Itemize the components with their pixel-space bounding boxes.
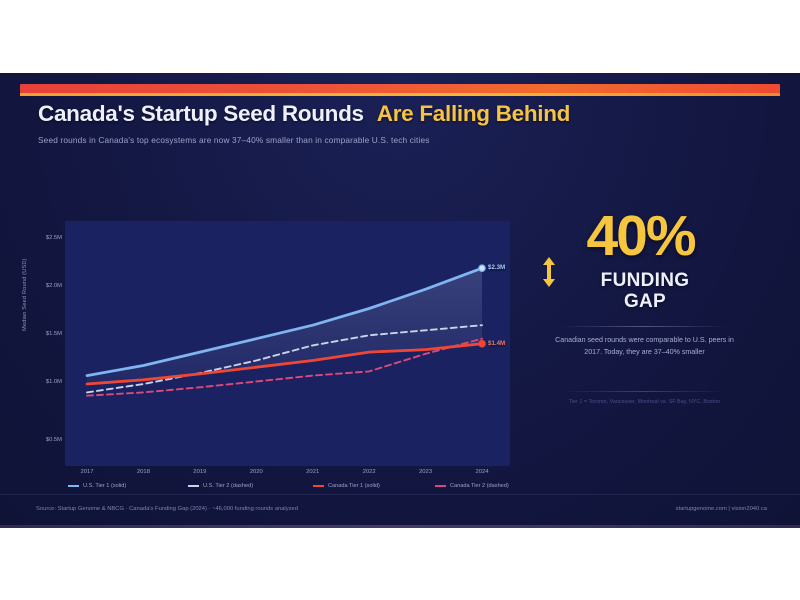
title-accent: Are Falling Behind — [377, 101, 570, 126]
page-title: Canada's Startup Seed RoundsAre Falling … — [38, 101, 570, 127]
legend-label: U.S. Tier 2 (dashed) — [203, 483, 253, 489]
site-links[interactable]: startupgenome.com | vision2040.ca — [676, 506, 767, 512]
divider — [560, 326, 728, 327]
legend-swatch-icon — [188, 485, 199, 487]
legend-swatch-icon — [68, 485, 79, 487]
page-subtitle: Seed rounds in Canada's top ecosystems a… — [38, 135, 430, 145]
divider-secondary — [560, 391, 728, 392]
bottom-rule — [0, 525, 800, 528]
x-tick: 2024 — [475, 469, 488, 475]
chart-panel: $2.3M $1.4M — [65, 221, 510, 466]
infographic-poster: Canada's Startup Seed RoundsAre Falling … — [0, 73, 800, 528]
legend-item-us-tier1: U.S. Tier 1 (solid) — [68, 483, 126, 489]
legend-label: U.S. Tier 1 (solid) — [83, 483, 126, 489]
x-tick: 2018 — [137, 469, 150, 475]
up-down-arrow-icon — [540, 257, 558, 292]
y-tick: $1.5M — [22, 331, 62, 337]
x-tick: 2017 — [80, 469, 93, 475]
y-tick: $2.0M — [22, 283, 62, 289]
x-tick: 2020 — [250, 469, 263, 475]
x-tick: 2023 — [419, 469, 432, 475]
legend-swatch-icon — [313, 485, 324, 487]
funding-gap-percent: 40% — [553, 208, 728, 265]
legend-label: Canada Tier 1 (solid) — [328, 483, 380, 489]
funding-gap-label-line1: FUNDING — [601, 270, 690, 291]
legend-item-canada-tier1: Canada Tier 1 (solid) — [313, 483, 380, 489]
y-tick: $1.0M — [22, 379, 62, 385]
y-axis-ticks: $2.5M $2.0M $1.5M $1.0M $0.5M — [18, 221, 62, 466]
x-tick: 2021 — [306, 469, 319, 475]
endpoint-label-canada-tier1: $1.4M — [488, 340, 505, 347]
legend-item-us-tier2: U.S. Tier 2 (dashed) — [188, 483, 253, 489]
endpoint-label-us-tier1: $2.3M — [488, 264, 505, 271]
legend-swatch-icon — [435, 485, 446, 487]
legend-item-canada-tier2: Canada Tier 2 (dashed) — [435, 483, 509, 489]
callout-footnote: Tier 1 = Toronto, Vancouver, Montreal vs… — [552, 399, 737, 405]
x-tick: 2019 — [193, 469, 206, 475]
legend-label: Canada Tier 2 (dashed) — [450, 483, 509, 489]
funding-gap-label-line2: GAP — [624, 291, 666, 312]
funding-gap-label: FUNDING GAP — [560, 271, 730, 312]
footer-divider — [0, 494, 800, 495]
y-tick: $0.5M — [22, 437, 62, 443]
x-tick: 2022 — [363, 469, 376, 475]
source-text: Source: Startup Genome & NBCG · Canada's… — [36, 506, 298, 512]
callout-body-text: Canadian seed rounds were comparable to … — [552, 335, 737, 358]
x-axis-ticks: 20172018201920202021202220232024 — [65, 469, 510, 481]
accent-bar-gold — [20, 93, 780, 96]
title-primary: Canada's Startup Seed Rounds — [38, 101, 364, 126]
line-chart — [65, 221, 510, 466]
y-tick: $2.5M — [22, 235, 62, 241]
accent-bar-top — [20, 84, 780, 93]
